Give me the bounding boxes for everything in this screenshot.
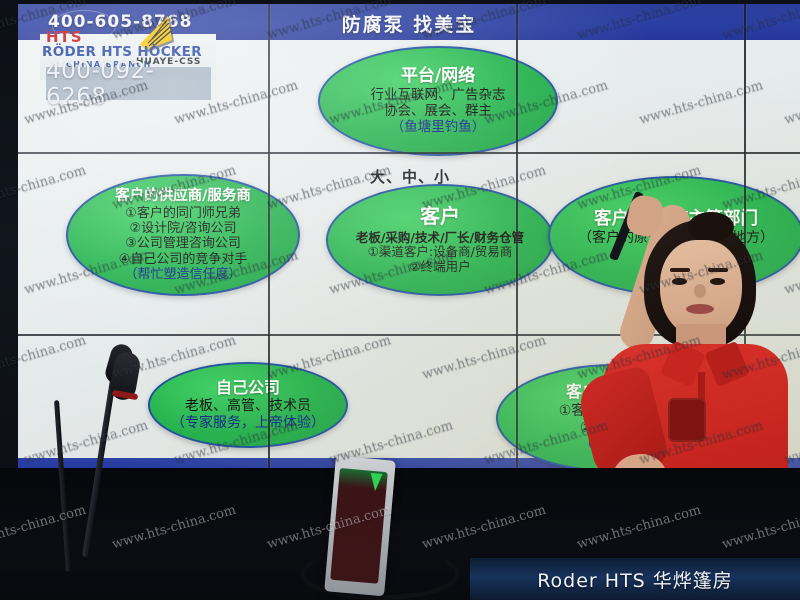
presenter-nose: [694, 284, 706, 298]
oval-line: 老板、高管、技术员: [185, 398, 311, 415]
oval-supplier: 客户的供应商/服务商 ①客户的同门师兄弟 ②设计院/咨询公司 ③公司管理咨询公司…: [66, 174, 300, 296]
oval-title: 平台/网络: [401, 66, 475, 86]
wall-bezel-vertical: [268, 4, 270, 472]
overlay-phone-number: 400-092-6268: [46, 58, 211, 110]
presenter-eye: [672, 278, 687, 285]
tablet-device: [324, 456, 396, 597]
oval-line: 行业互联网、广告杂志: [371, 88, 506, 104]
oval-title: 客户的供应商/服务商: [115, 188, 251, 205]
oval-line: 协会、展会、群主: [384, 104, 492, 120]
oval-line: ②终端用户: [409, 260, 470, 275]
presenter-mouth: [686, 304, 714, 314]
oval-line: 老板/采购/技术/厂长/财务仓管: [356, 231, 524, 246]
oval-line: ②设计院/咨询公司: [129, 221, 236, 236]
oval-line: ③公司管理咨询公司: [125, 236, 241, 251]
wall-bezel-horizontal: [18, 152, 800, 154]
screenshot-root: 防腐泵 找美宝 400-605-8768 HTS RÖDER HTS HÖCKE…: [0, 0, 800, 600]
oval-line: ①渠道客户:设备商/贸易商: [368, 245, 513, 260]
oval-line: ④自己公司的竞争对手: [119, 252, 248, 267]
oval-note: （专家服务，上帝体验）: [171, 415, 325, 432]
presenter-eyebrow: [708, 268, 728, 272]
tablet-screen: [330, 468, 388, 584]
oval-title: 客户: [420, 205, 460, 229]
phone-overlay-banner: 400-092-6268: [46, 67, 211, 100]
presenter-hair-bun: [688, 212, 734, 242]
oval-note: （鱼塘里钓鱼）: [391, 120, 486, 136]
shirt-emblem-icon: [668, 398, 706, 442]
oval-line: ①客户的同门师兄弟: [125, 206, 241, 221]
brand-bar: Roder HTS 华烨篷房: [470, 558, 800, 600]
oval-title: 自己公司: [216, 379, 280, 398]
oval-note: （帮忙塑造信任度）: [124, 267, 241, 282]
presenter-eyebrow: [670, 268, 690, 272]
brand-bar-text: Roder HTS 华烨篷房: [537, 566, 733, 593]
oval-platform: 平台/网络 行业互联网、广告杂志 协会、展会、群主 （鱼塘里钓鱼）: [318, 46, 558, 156]
wall-bezel-vertical: [516, 4, 518, 472]
oval-customer: 客户 老板/采购/技术/厂长/财务仓管 ①渠道客户:设备商/贸易商 ②终端用户: [326, 184, 554, 296]
presenter-eye: [710, 278, 725, 285]
oval-own-company: 自己公司 老板、高管、技术员 （专家服务，上帝体验）: [148, 362, 348, 448]
